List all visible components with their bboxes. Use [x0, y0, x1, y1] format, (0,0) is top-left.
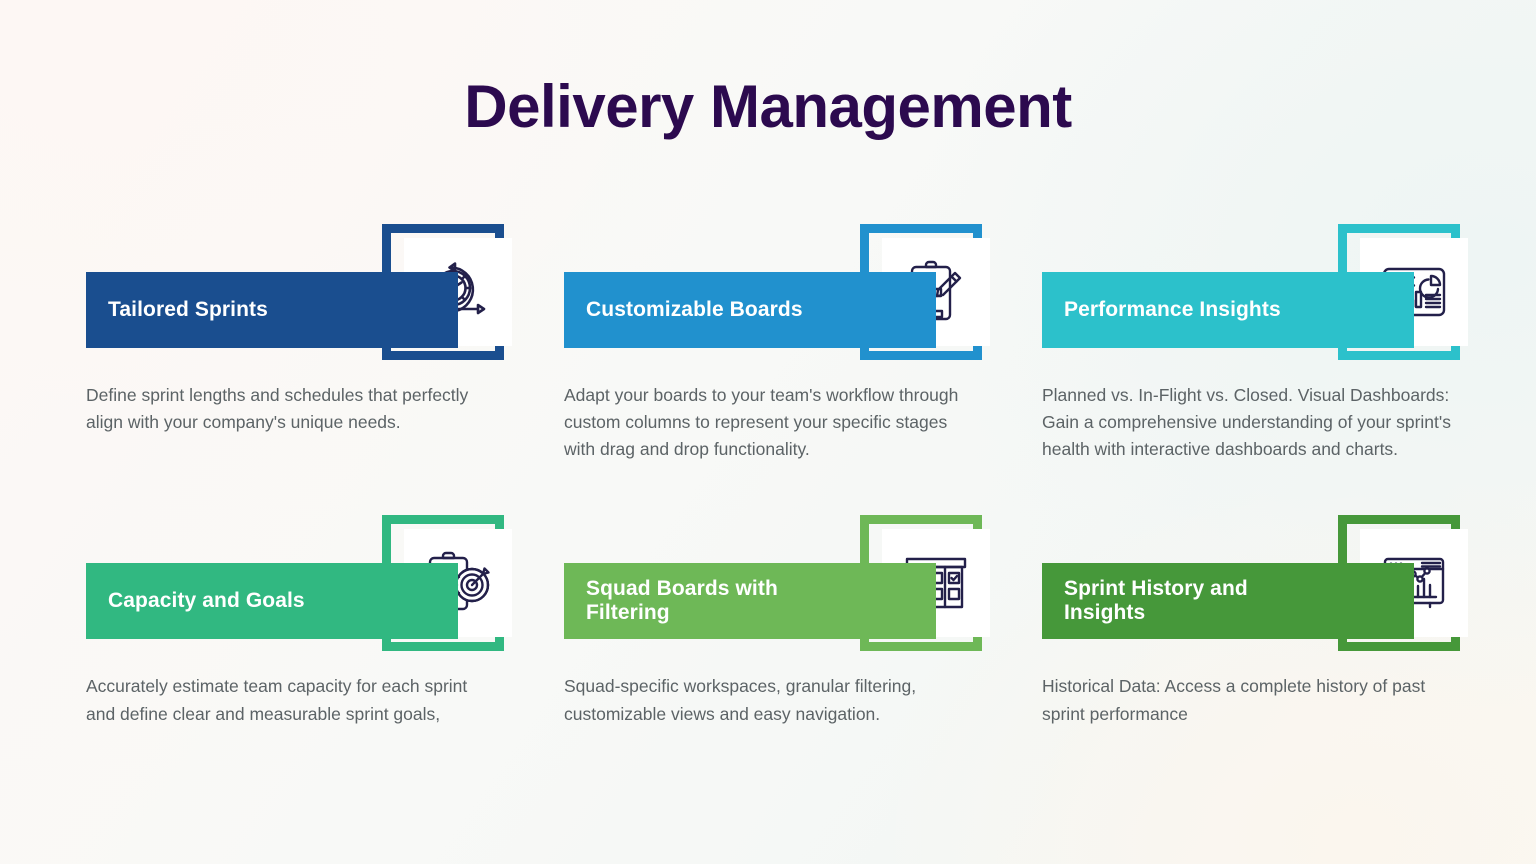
card-header: Performance Insights: [1042, 224, 1452, 364]
card-description: Define sprint lengths and schedules that…: [86, 382, 496, 436]
card-header: Capacity and Goals: [86, 515, 496, 655]
feature-card-customizable-boards[interactable]: Customizable Boards Adapt your boards to…: [564, 224, 974, 463]
card-title: Customizable Boards: [586, 298, 803, 323]
card-header: Tailored Sprints: [86, 224, 496, 364]
bar-overlap: [382, 272, 458, 348]
bar-overlap: [860, 272, 936, 348]
infographic-page: Delivery Management: [0, 0, 1536, 864]
bar-overlap: [382, 563, 458, 639]
card-title: Sprint History and Insights: [1064, 577, 1334, 627]
card-description: Adapt your boards to your team's workflo…: [564, 382, 974, 463]
feature-card-tailored-sprints[interactable]: Tailored Sprints Define sprint lengths a…: [86, 224, 496, 463]
feature-card-performance-insights[interactable]: Performance Insights Planned vs. In-Flig…: [1042, 224, 1452, 463]
feature-card-capacity-and-goals[interactable]: Capacity and Goals Accurately estimate t…: [86, 479, 496, 727]
feature-card-grid: Tailored Sprints Define sprint lengths a…: [86, 224, 1452, 728]
card-header: Customizable Boards: [564, 224, 974, 364]
card-description: Squad-specific workspaces, granular filt…: [564, 673, 974, 727]
card-header: Squad Boards with Filtering: [564, 515, 974, 655]
page-title: Delivery Management: [0, 72, 1536, 141]
card-description: Accurately estimate team capacity for ea…: [86, 673, 496, 727]
card-title: Tailored Sprints: [108, 298, 268, 323]
card-header: Sprint History and Insights: [1042, 515, 1452, 655]
bar-overlap: [860, 563, 936, 639]
card-title: Performance Insights: [1064, 298, 1281, 323]
card-description: Planned vs. In-Flight vs. Closed. Visual…: [1042, 382, 1452, 463]
feature-card-squad-boards-with-filtering[interactable]: Squad Boards with Filtering Squad-specif…: [564, 479, 974, 727]
bar-overlap: [1338, 272, 1414, 348]
card-description: Historical Data: Access a complete histo…: [1042, 673, 1452, 727]
bar-overlap: [1338, 563, 1414, 639]
feature-card-sprint-history-and-insights[interactable]: Sprint History and Insights Historical D…: [1042, 479, 1452, 727]
card-title: Capacity and Goals: [108, 589, 305, 614]
card-title: Squad Boards with Filtering: [586, 577, 856, 627]
